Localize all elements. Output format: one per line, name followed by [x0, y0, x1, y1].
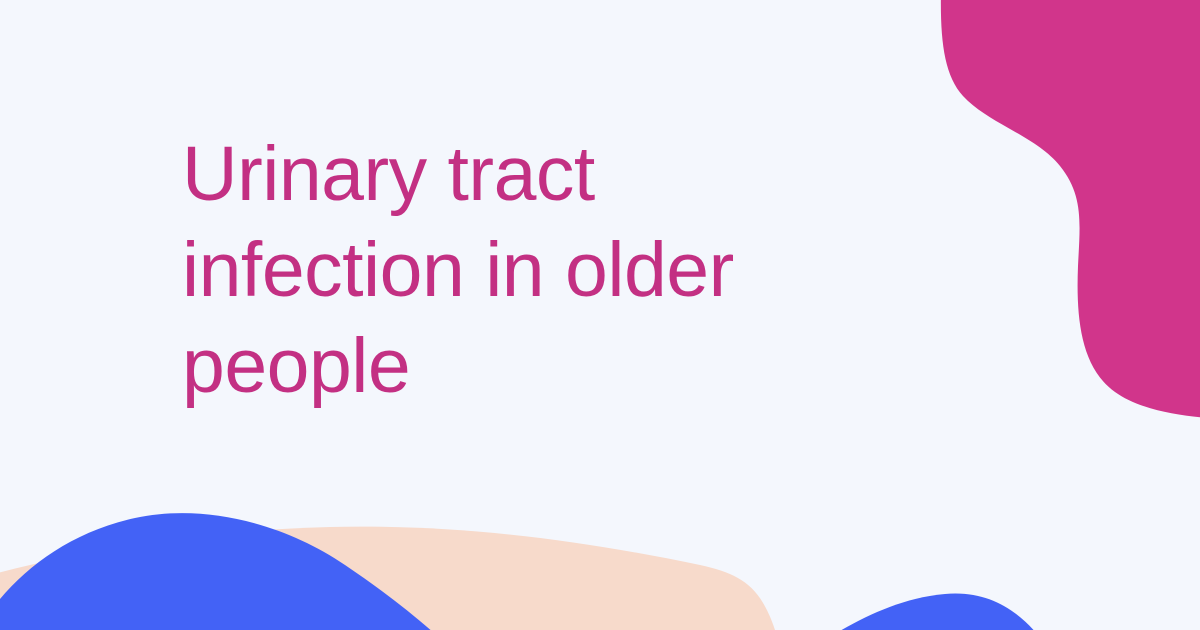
blue-blob-bottom-right-shape — [825, 594, 1042, 630]
title-block: Urinary tract infection in older people — [182, 126, 822, 414]
blue-blob-bottom-left-shape — [0, 513, 442, 630]
pink-blob-top-right-shape — [941, 0, 1200, 418]
peach-wave-bottom-shape — [0, 527, 775, 630]
page-title: Urinary tract infection in older people — [182, 126, 822, 414]
cover-card: Urinary tract infection in older people — [0, 0, 1200, 630]
